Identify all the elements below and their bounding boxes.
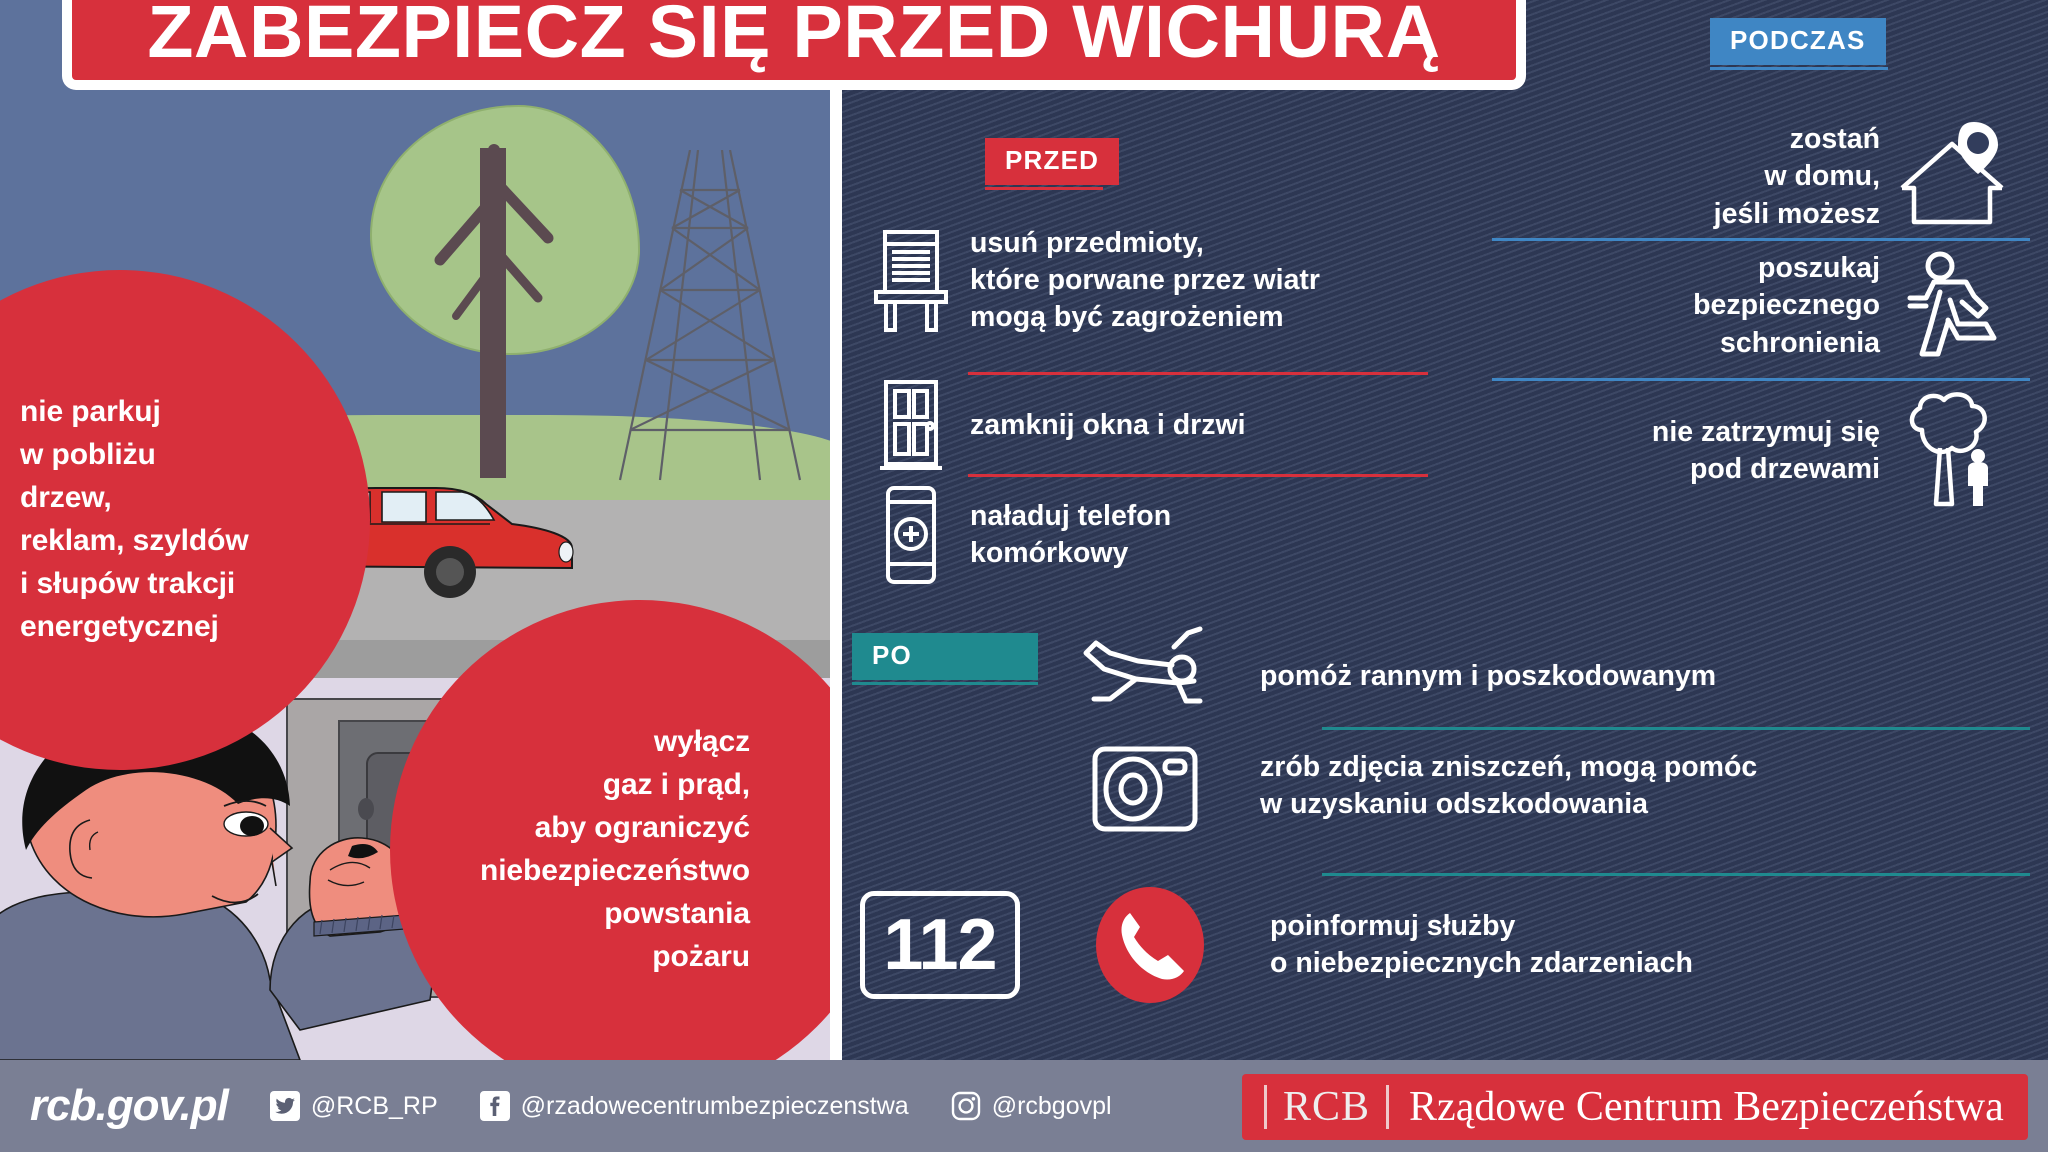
advice-item-przed-3: naładuj telefon komórkowy — [852, 484, 1452, 586]
phone-call-icon — [1030, 885, 1270, 1005]
logo-abbreviation: RCB — [1283, 1083, 1370, 1131]
emergency-number-badge: 112 — [850, 891, 1030, 999]
advice-text-przed-1: usuń przedmioty, które porwane przez wia… — [970, 225, 1320, 336]
advice-line: w uzyskaniu odszkodowania — [1260, 786, 1757, 823]
advice-text-po-1: pomóż rannym i poszkodowanym — [1260, 658, 1716, 695]
infographic-root: OFF ON — [0, 0, 2048, 1152]
advice-line: o niebezpiecznych zdarzeniach — [1270, 945, 1693, 982]
footer: rcb.gov.pl @RCB_RP @rzadowecentrumbezpie… — [0, 1060, 2048, 1152]
rcb-logo: RCB Rządowe Centrum Bezpieczeństwa — [1242, 1074, 2028, 1140]
chip-przed: PRZED — [985, 138, 1119, 190]
callout-line: pożaru — [480, 936, 750, 979]
advice-line: pomóż rannym i poszkodowanym — [1260, 658, 1716, 695]
advice-item-po-3: 112 poinformuj służby o niebezpiecznych … — [850, 885, 2030, 1005]
chip-po-label: PO — [852, 633, 1038, 680]
section-przed: PRZED — [830, 0, 1450, 610]
divider-po-2 — [1322, 873, 2030, 876]
chip-przed-label: PRZED — [985, 138, 1119, 185]
callout-line: nie parkuj — [20, 391, 249, 434]
logo-full-name: Rządowe Centrum Bezpieczeństwa — [1409, 1083, 2004, 1131]
running-person-icon — [1880, 250, 2030, 362]
advice-text-podczas-3: nie zatrzymuj się pod drzewami — [1652, 414, 1880, 488]
callout-line: i słupów trakcji — [20, 563, 249, 606]
power-pylon-icon — [560, 150, 830, 490]
callout-line: reklam, szyldów — [20, 520, 249, 563]
advice-line: zostań — [1714, 121, 1880, 158]
camera-icon — [1030, 737, 1260, 835]
divider-przed-2 — [968, 474, 1428, 477]
emergency-number-text: 112 — [883, 904, 996, 986]
instagram-icon — [949, 1089, 983, 1123]
chip-po-underline — [852, 682, 1038, 685]
advice-line: w domu, — [1714, 158, 1880, 195]
social-instagram[interactable]: @rcbgovpl — [949, 1089, 1112, 1123]
advice-line: zrób zdjęcia zniszczeń, mogą pomóc — [1260, 749, 1757, 786]
advice-line: poinformuj służby — [1270, 908, 1693, 945]
page-title: ZABEZPIECZ SIĘ PRZED WICHURĄ — [147, 0, 1440, 74]
callout-line: aby ograniczyć — [480, 807, 750, 850]
advice-line: mogą być zagrożeniem — [970, 299, 1320, 336]
advice-item-przed-2: zamknij okna i drzwi — [852, 382, 1452, 470]
mobile-phone-charge-icon — [852, 484, 970, 586]
callout-line: gaz i prąd, — [480, 764, 750, 807]
advice-text-podczas-2: poszukaj bezpiecznego schronienia — [1693, 250, 1880, 361]
callout-line: w pobliżu — [20, 434, 249, 477]
door-icon — [852, 378, 970, 474]
advice-line: naładuj telefon — [970, 498, 1171, 535]
footer-website-url[interactable]: rcb.gov.pl — [30, 1081, 228, 1131]
chip-po: PO — [852, 633, 1038, 685]
advice-item-po-1: pomóż rannym i poszkodowanym — [1030, 625, 2030, 729]
advice-line: bezpiecznego — [1693, 287, 1880, 324]
advice-item-podczas-1: zostań w domu, jeśli możesz — [1470, 118, 2030, 236]
logo-bar-right — [1386, 1085, 1389, 1129]
divider-przed-1 — [968, 372, 1428, 375]
advice-line: które porwane przez wiatr — [970, 262, 1320, 299]
callout-line: powstania — [480, 893, 750, 936]
facebook-icon — [478, 1089, 512, 1123]
section-po: PO — [830, 615, 2048, 1060]
advice-line: poszukaj — [1693, 250, 1880, 287]
divider-po-1 — [1322, 727, 2030, 730]
advice-item-przed-1: usuń przedmioty, które porwane przez wia… — [852, 225, 1452, 336]
logo-bar-left — [1264, 1085, 1267, 1129]
advice-text-przed-2: zamknij okna i drzwi — [970, 407, 1246, 444]
social-twitter[interactable]: @RCB_RP — [268, 1089, 438, 1123]
divider-podczas-1 — [1492, 238, 2030, 241]
advice-panel: PRZED — [830, 0, 2048, 1060]
advice-text-podczas-1: zostań w domu, jeśli możesz — [1714, 121, 1880, 232]
tree-person-icon — [1880, 390, 2030, 512]
twitter-icon — [268, 1089, 302, 1123]
twitter-handle: @RCB_RP — [311, 1092, 438, 1121]
chip-podczas-label: PODCZAS — [1710, 18, 1886, 65]
instagram-handle: @rcbgovpl — [992, 1092, 1112, 1121]
advice-line: schronienia — [1693, 325, 1880, 362]
social-facebook[interactable]: @rzadowecentrumbezpieczenstwa — [478, 1089, 909, 1123]
callout-line: niebezpieczeństwo — [480, 850, 750, 893]
advice-line: pod drzewami — [1652, 451, 1880, 488]
divider-podczas-2 — [1492, 378, 2030, 381]
chip-przed-underline — [985, 187, 1103, 190]
advice-line: usuń przedmioty, — [970, 225, 1320, 262]
advice-item-podczas-3: nie zatrzymuj się pod drzewami — [1470, 390, 2030, 512]
chair-icon — [852, 228, 970, 334]
callout-line: energetycznej — [20, 606, 249, 649]
callout-line: wyłącz — [480, 721, 750, 764]
advice-line: zamknij okna i drzwi — [970, 407, 1246, 444]
page-title-banner: ZABEZPIECZ SIĘ PRZED WICHURĄ — [62, 0, 1526, 90]
chip-podczas-underline — [1710, 67, 1888, 70]
injured-person-icon — [1030, 625, 1260, 729]
advice-line: jeśli możesz — [1714, 196, 1880, 233]
advice-line: nie zatrzymuj się — [1652, 414, 1880, 451]
section-podczas: PODCZAS zostań w domu, jeśli możesz — [1450, 0, 2048, 610]
illustration-panel: OFF ON — [0, 0, 830, 1060]
advice-line: komórkowy — [970, 535, 1171, 572]
advice-text-po-2: zrób zdjęcia zniszczeń, mogą pomóc w uzy… — [1260, 749, 1757, 823]
advice-text-przed-3: naładuj telefon komórkowy — [970, 498, 1171, 572]
advice-text-po-3: poinformuj służby o niebezpiecznych zdar… — [1270, 908, 1693, 982]
house-pin-icon — [1880, 118, 2030, 236]
facebook-handle: @rzadowecentrumbezpieczenstwa — [521, 1092, 909, 1121]
chip-podczas: PODCZAS — [1710, 18, 1888, 70]
advice-item-po-2: zrób zdjęcia zniszczeń, mogą pomóc w uzy… — [1030, 737, 2030, 835]
advice-item-podczas-2: poszukaj bezpiecznego schronienia — [1470, 250, 2030, 362]
callout-line: drzew, — [20, 477, 249, 520]
